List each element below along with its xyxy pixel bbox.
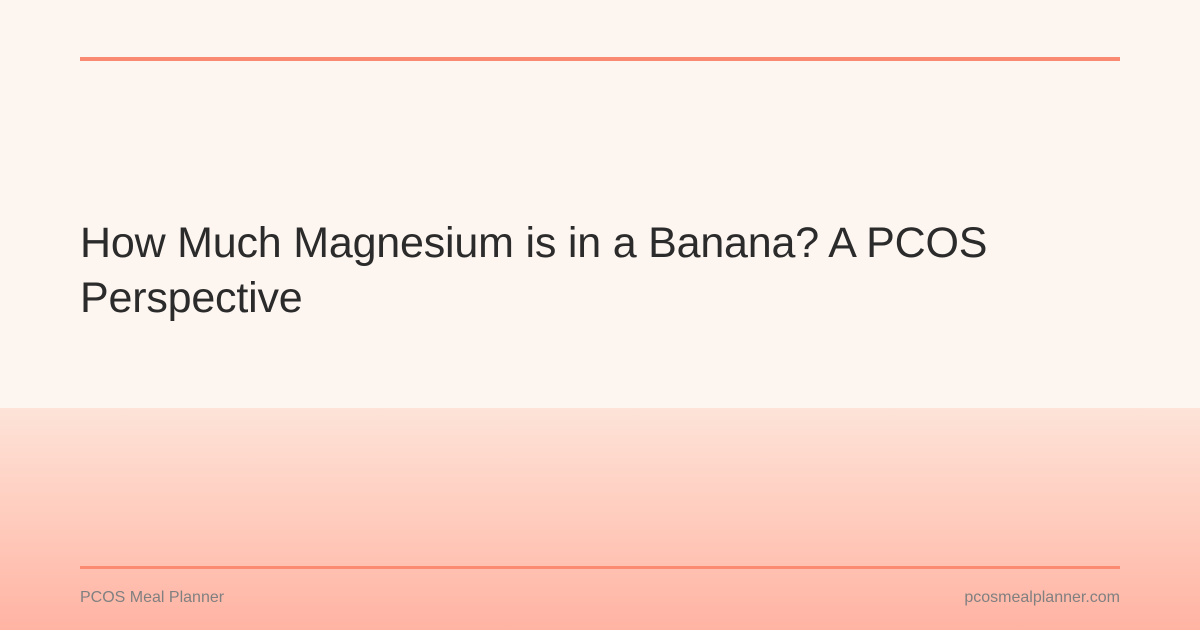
title-block: How Much Magnesium is in a Banana? A PCO… <box>80 216 1060 326</box>
footer-row: PCOS Meal Planner pcosmealplanner.com <box>80 588 1120 608</box>
footer: PCOS Meal Planner pcosmealplanner.com <box>80 566 1120 608</box>
top-accent-rule <box>80 57 1120 61</box>
footer-brand-name: PCOS Meal Planner <box>80 588 224 608</box>
footer-divider-rule <box>80 566 1120 569</box>
page-title: How Much Magnesium is in a Banana? A PCO… <box>80 216 1060 326</box>
social-share-card: How Much Magnesium is in a Banana? A PCO… <box>0 0 1200 630</box>
footer-site-url: pcosmealplanner.com <box>964 588 1120 608</box>
